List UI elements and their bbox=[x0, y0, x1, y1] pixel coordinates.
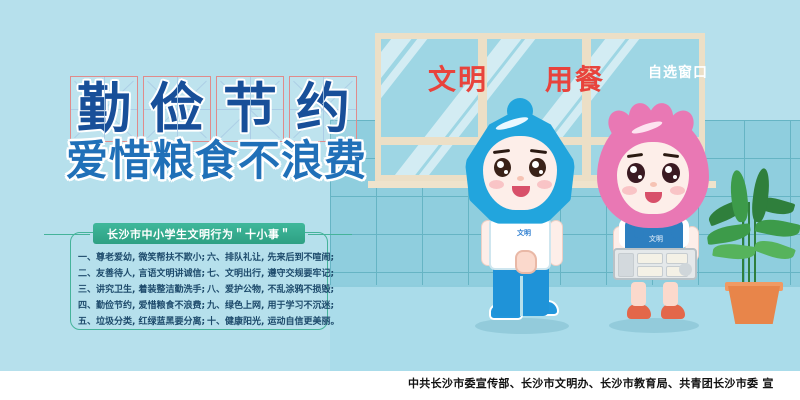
mouth bbox=[645, 192, 662, 203]
eye-left bbox=[627, 163, 645, 183]
banner-rule-left bbox=[44, 234, 90, 235]
cheek-right bbox=[670, 186, 685, 195]
title-char-box: 节 bbox=[216, 76, 284, 142]
mascot-shadow bbox=[609, 318, 699, 333]
eyebrow-right bbox=[663, 153, 679, 158]
list-item: 六、排队礼让, 先来后到不喧闹; bbox=[207, 250, 326, 266]
nose bbox=[517, 176, 524, 181]
tray-compartment bbox=[618, 253, 634, 277]
thumbs-up-hand bbox=[515, 250, 537, 274]
sign-wenming: 文明 bbox=[428, 58, 488, 98]
title-char: 约 bbox=[290, 77, 356, 141]
food-tray bbox=[613, 248, 697, 280]
title-char-box: 勤 bbox=[70, 76, 138, 142]
title-char: 节 bbox=[217, 77, 283, 141]
plant-pot bbox=[728, 286, 780, 324]
list-banner-title: 长沙市中小学生文明行为＂十小事＂ bbox=[93, 223, 305, 244]
list-column-right: 六、排队礼让, 先来后到不喧闹; 七、文明出行, 遵守交规要牢记; 八、爱护公物… bbox=[207, 250, 326, 330]
list-item: 七、文明出行, 遵守交规要牢记; bbox=[207, 266, 326, 282]
list-column-left: 一、尊老爱幼, 微笑帮扶不欺小; 二、友善待人, 言语文明讲诚信; 三、讲究卫生… bbox=[78, 250, 197, 330]
face bbox=[617, 142, 689, 214]
mouth bbox=[512, 186, 530, 197]
main-title: 勤 俭 节 约 bbox=[70, 76, 357, 142]
plant-leaf bbox=[753, 236, 796, 264]
title-char: 俭 bbox=[144, 77, 210, 141]
poster-subtitle: 爱惜粮食不浪费 bbox=[66, 140, 367, 182]
pants-split bbox=[520, 276, 523, 316]
list-item: 三、讲究卫生, 着装整洁勤洗手; bbox=[78, 282, 197, 298]
arm-right bbox=[549, 220, 563, 266]
mascot-pink: 文明 bbox=[585, 108, 720, 338]
credit-line: 中共长沙市委宣传部、长沙市文明办、长沙市教育局、共青团长沙市委 宣 bbox=[408, 375, 774, 391]
list-item: 九、绿色上网, 用于学习不沉迷; bbox=[207, 298, 326, 314]
tray-compartment bbox=[637, 266, 663, 277]
list-item: 一、尊老爱幼, 微笑帮扶不欺小; bbox=[78, 250, 197, 266]
title-char-box: 俭 bbox=[143, 76, 211, 142]
title-char: 勤 bbox=[71, 77, 137, 141]
shoe-right bbox=[661, 304, 685, 319]
face bbox=[483, 136, 557, 210]
list-item: 五、垃圾分类, 红绿蓝黑要分离; bbox=[78, 314, 197, 330]
eye-left bbox=[494, 158, 511, 177]
spoon bbox=[679, 263, 692, 276]
title-char-box: 约 bbox=[289, 76, 357, 142]
sign-yongcan: 用餐 bbox=[545, 58, 605, 98]
eye-right bbox=[662, 163, 680, 183]
list-item: 十、健康阳光, 运动自信更美丽。 bbox=[207, 314, 326, 330]
tray-compartment bbox=[637, 253, 663, 264]
cheek-left bbox=[489, 180, 504, 189]
list-columns: 一、尊老爱幼, 微笑帮扶不欺小; 二、友善待人, 言语文明讲诚信; 三、讲究卫生… bbox=[78, 250, 326, 330]
leg-right bbox=[663, 282, 678, 306]
shoe-left bbox=[627, 304, 651, 319]
sign-self-service-window: 自选窗口 bbox=[648, 62, 708, 82]
leg-left bbox=[631, 282, 646, 306]
banner-rule-right bbox=[308, 234, 352, 235]
list-item: 八、爱护公物, 不乱涂鸦不损毁; bbox=[207, 282, 326, 298]
eyebrow-right bbox=[530, 149, 547, 154]
cheek-left bbox=[622, 186, 637, 195]
mascot-shadow bbox=[475, 318, 569, 334]
eye-right bbox=[529, 158, 546, 177]
nose bbox=[650, 182, 657, 187]
list-item: 四、勤俭节约, 爱惜粮食不浪费; bbox=[78, 298, 197, 314]
cheek-right bbox=[537, 180, 552, 189]
eyebrow-left bbox=[627, 153, 643, 158]
eyebrow-left bbox=[493, 149, 510, 154]
plant-leaf bbox=[750, 167, 771, 222]
poster-root: 文明 用餐 自选窗口 文明 bbox=[0, 0, 800, 400]
tshirt-logo: 文明 bbox=[511, 230, 537, 244]
list-item: 二、友善待人, 言语文明讲诚信; bbox=[78, 266, 197, 282]
mascot-blue: 文明 bbox=[455, 108, 585, 338]
